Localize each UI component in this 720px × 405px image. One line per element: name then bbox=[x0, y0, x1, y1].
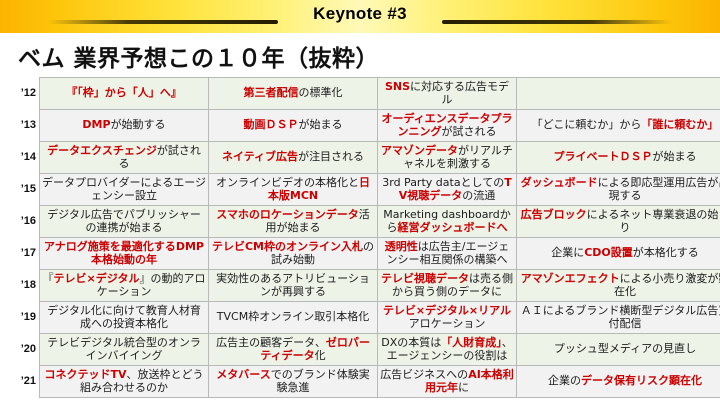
table-cell-text: ＡＩによるブランド横断型デジタル広告買付配信 bbox=[519, 305, 720, 330]
highlighted-term: スマホのロケーション bbox=[216, 208, 325, 221]
highlighted-term: リスク顕在化 bbox=[636, 374, 702, 387]
table-cell: 広告主の顧客データ、ゼロパーティデータ化 bbox=[209, 334, 378, 366]
plain-term: が bbox=[157, 144, 168, 157]
row-year-label: ’17 bbox=[6, 238, 40, 270]
plain-term: による bbox=[598, 176, 631, 189]
table-cell: 広告ブロックによるネット専業衰退の始まり bbox=[517, 206, 720, 238]
table-cell: SNSに対応する広告モデル bbox=[378, 78, 517, 110]
plain-term: シー相互関係の構築へ bbox=[398, 253, 508, 266]
row-year-label: ’16 bbox=[6, 206, 40, 238]
plain-term: デジタル広告でパブリッ bbox=[47, 208, 168, 221]
table-row: ’15データプロバイダーによるエージェンシー設立オンラインビデオの本格化と日本版… bbox=[6, 174, 720, 206]
table-cell: 3rd Party dataとしてのTV視聴データの流通 bbox=[378, 174, 517, 206]
highlighted-term: テレビ視聴データ bbox=[381, 272, 469, 285]
plain-term: によるブランド横断型デ bbox=[543, 304, 664, 317]
table-row: ’16デジタル広告でパブリッシャーの連携が始まるスマホのロケーションデータ活用が… bbox=[6, 206, 720, 238]
table-cell: デジタル広告でパブリッシャーの連携が始まる bbox=[40, 206, 209, 238]
highlighted-term: オンライン入札 bbox=[286, 240, 363, 253]
table-cell-text: メタバースでのブランド体験実験急進 bbox=[211, 369, 375, 394]
table-cell: アマゾンデータがリアルチャネルを刺激する bbox=[378, 142, 517, 174]
table-cell-text: プッシュ型メディアの見直し bbox=[519, 343, 720, 355]
highlighted-term: テレビ×デジタル×リアル bbox=[383, 304, 511, 317]
plain-term: 企業の bbox=[548, 374, 581, 387]
plain-term: での bbox=[271, 368, 293, 381]
table-cell-text: 動画ＤＳＰが始まる bbox=[211, 119, 375, 131]
highlighted-term: 経営ダッシュボードへ bbox=[398, 221, 508, 234]
table-cell-text: アマゾンデータがリアルチャネルを刺激する bbox=[380, 145, 514, 170]
highlighted-term: 「誰に頼むか」 bbox=[641, 118, 718, 131]
table-cell-text: コネクテッドTV、放送枠とどう組み合わせるのか bbox=[42, 369, 206, 394]
table-row: ’13DMPが始動する動画ＤＳＰが始まるオーディエンスデータプランニングが試され… bbox=[6, 110, 720, 142]
plain-term: 本格化する bbox=[644, 246, 699, 259]
table-cell: 第三者配信の標準化 bbox=[209, 78, 378, 110]
table-cell-text: データプロバイダーによるエージェンシー設立 bbox=[42, 177, 206, 202]
highlighted-term: データエクスチェンジ bbox=[47, 144, 157, 157]
plain-term: が始まる bbox=[653, 150, 697, 163]
plain-term: DXの本質は bbox=[381, 336, 441, 349]
table-cell-text: 広告ブロックによるネット専業衰退の始まり bbox=[519, 209, 720, 234]
highlighted-term: ダッシュボード bbox=[521, 176, 598, 189]
table-cell: コネクテッドTV、放送枠とどう組み合わせるのか bbox=[40, 366, 209, 398]
table-cell: 動画ＤＳＰが始まる bbox=[209, 110, 378, 142]
highlighted-term: データ bbox=[326, 208, 359, 221]
table-cell-text: 『「枠」から「人」へ』 bbox=[42, 87, 206, 99]
table-cell-text: 『テレビ×デジタル』の動的アロケーション bbox=[42, 273, 206, 298]
plain-term: 企業に bbox=[551, 246, 584, 259]
plain-term: 注目される bbox=[309, 150, 364, 163]
table-cell: プッシュ型メディアの見直し bbox=[517, 334, 720, 366]
row-year-label: ’12 bbox=[6, 78, 40, 110]
table-cell-text: 広告ビジネスへのAI本格利用元年に bbox=[380, 369, 514, 394]
plain-term: に bbox=[458, 381, 469, 394]
table-cell: テレビ×デジタル×リアルアロケーション bbox=[378, 302, 517, 334]
highlighted-term: 『「枠」から「人」へ』 bbox=[66, 86, 182, 99]
row-year-label: ’19 bbox=[6, 302, 40, 334]
table-cell: プライベートＤＳＰが始まる bbox=[517, 142, 720, 174]
highlighted-term: プライベートＤＳＰ bbox=[554, 150, 653, 163]
plain-term: 広告ビジネスへの bbox=[380, 368, 468, 381]
plain-term: アロケーション bbox=[409, 317, 486, 330]
table-cell-text: データエクスチェンジが試される bbox=[42, 145, 206, 170]
table-cell-text: オーディエンスデータプランニングが試される bbox=[380, 113, 514, 138]
table-cell-text: テレビデジタル統合型のオンラインバイイング bbox=[42, 337, 206, 362]
table-cell: DMPが始動する bbox=[40, 110, 209, 142]
plain-term: 「どこに頼むか」から bbox=[532, 118, 642, 131]
row-year-label: ’14 bbox=[6, 142, 40, 174]
table-cell: ＡＩによるブランド横断型デジタル広告買付配信 bbox=[517, 302, 720, 334]
highlighted-term: テレビCM枠の bbox=[212, 240, 286, 253]
table-cell-text: 実効性のあるアトリビューションが再興する bbox=[211, 273, 375, 298]
table-cell: テレビデジタル統合型のオンラインバイイング bbox=[40, 334, 209, 366]
table-cell: 広告ビジネスへのAI本格利用元年に bbox=[378, 366, 517, 398]
table-cell-text: 企業のデータ保有リスク顕在化 bbox=[519, 375, 720, 387]
table-cell-text: 「どこに頼むか」から「誰に頼むか」 bbox=[519, 119, 720, 131]
table-row: ’14データエクスチェンジが試されるネイティブ広告が注目されるアマゾンデータがリ… bbox=[6, 142, 720, 174]
table-cell: アマゾンエフェクトによる小売り激変が顕在化 bbox=[517, 270, 720, 302]
plain-term: 『 bbox=[43, 272, 54, 285]
highlighted-term: コネクテッドTV bbox=[44, 368, 126, 381]
highlighted-term: 動画ＤＳＰ bbox=[244, 118, 299, 131]
table-cell-text: 3rd Party dataとしてのTV視聴データの流通 bbox=[380, 177, 514, 202]
table-cell: オーディエンスデータプランニングが試される bbox=[378, 110, 517, 142]
plain-term: 実効性のあるアトリビュー bbox=[216, 272, 348, 285]
table-cell: 透明性は広告主/エージェンシー相互関係の構築へ bbox=[378, 238, 517, 270]
plain-term: データプロバイダーによる bbox=[42, 176, 173, 189]
table-cell: データプロバイダーによるエージェンシー設立 bbox=[40, 174, 209, 206]
table-cell-text: ダッシュボードによる即応型運用広告が出現する bbox=[519, 177, 720, 202]
table-cell-text: 第三者配信の標準化 bbox=[211, 87, 375, 99]
table-cell: DXの本質は「人財育成」、エージェンシーの役割は bbox=[378, 334, 517, 366]
page-title: ベム 業界予想この１０年（抜粋） bbox=[18, 39, 720, 73]
table-cell-text: SNSに対応する広告モデル bbox=[380, 81, 514, 106]
table-row: ’18『テレビ×デジタル』の動的アロケーション実効性のあるアトリビューションが再… bbox=[6, 270, 720, 302]
table-row: ’19デジタル化に向けて教育人材育成への投資本格化TVCM枠オンライン取引本格化… bbox=[6, 302, 720, 334]
table-row: ’21コネクテッドTV、放送枠とどう組み合わせるのかメタバースでのブランド体験実… bbox=[6, 366, 720, 398]
table-cell-text: テレビCM枠のオンライン入札の試み始動 bbox=[211, 241, 375, 266]
plain-term: が始まる bbox=[299, 118, 343, 131]
table-cell-text: オンラインビデオの本格化と日本版MCN bbox=[211, 177, 375, 202]
table-cell-text: DXの本質は「人財育成」、エージェンシーの役割は bbox=[380, 337, 514, 362]
table-cell-text: TVCM枠オンライン取引本格化 bbox=[211, 311, 375, 323]
table-cell-text: デジタル広告でパブリッシャーの連携が始まる bbox=[42, 209, 206, 234]
table-cell: Marketing dashboardから経営ダッシュボードへ bbox=[378, 206, 517, 238]
forecast-table: ’12『「枠」から「人」へ』第三者配信の標準化SNSに対応する広告モデル’13D… bbox=[6, 77, 720, 398]
table-cell-text: DMPが始動する bbox=[42, 119, 206, 131]
table-cell-text: テレビ視聴データは売る側から買う側のデータに bbox=[380, 273, 514, 298]
plain-term: が bbox=[298, 150, 309, 163]
table-cell bbox=[517, 78, 720, 110]
highlighted-term: SNS bbox=[385, 80, 410, 93]
table-cell-text: アナログ施策を最適化するDMP本格始動の年 bbox=[42, 241, 206, 266]
highlighted-term: ネイティブ広告 bbox=[222, 150, 298, 163]
highlighted-term: アマゾンエフェクト bbox=[521, 272, 620, 285]
row-year-label: ’18 bbox=[6, 270, 40, 302]
banner-title: Keynote #3 bbox=[0, 4, 720, 24]
table-cell: ネイティブ広告が注目される bbox=[209, 142, 378, 174]
table-cell: ダッシュボードによる即応型運用広告が出現する bbox=[517, 174, 720, 206]
plain-term: 広告主の顧客データ、 bbox=[216, 336, 326, 349]
plain-term: 』の bbox=[140, 272, 162, 285]
highlighted-term: 透明性 bbox=[385, 240, 418, 253]
plain-term: エージェンシーの役割は bbox=[387, 349, 508, 362]
row-year-label: ’20 bbox=[6, 334, 40, 366]
table-cell: 実効性のあるアトリビューションが再興する bbox=[209, 270, 378, 302]
highlighted-term: 「人財育成」 bbox=[441, 336, 502, 349]
table-cell: 『「枠」から「人」へ』 bbox=[40, 78, 209, 110]
forecast-table-body: ’12『「枠」から「人」へ』第三者配信の標準化SNSに対応する広告モデル’13D… bbox=[6, 78, 720, 398]
row-year-label: ’21 bbox=[6, 366, 40, 398]
plain-term: 本格化 bbox=[336, 310, 369, 323]
table-cell: 企業にCDO設置が本格化する bbox=[517, 238, 720, 270]
plain-term: が試される bbox=[442, 125, 497, 138]
table-cell-text: テレビ×デジタル×リアルアロケーション bbox=[380, 305, 514, 330]
highlighted-term: データ保有 bbox=[581, 374, 636, 387]
table-cell-text: 透明性は広告主/エージェンシー相互関係の構築へ bbox=[380, 241, 514, 266]
highlighted-term: 第三者配信 bbox=[244, 86, 299, 99]
plain-term: によるネット専 bbox=[587, 208, 664, 221]
plain-term: が始動する bbox=[111, 118, 166, 131]
table-cell-text: デジタル化に向けて教育人材育成への投資本格化 bbox=[42, 305, 206, 330]
table-cell: スマホのロケーションデータ活用が始まる bbox=[209, 206, 378, 238]
plain-term: ら買う側のデータに bbox=[403, 285, 502, 298]
table-cell-text: 企業にCDO設置が本格化する bbox=[519, 247, 720, 259]
row-year-label: ’15 bbox=[6, 174, 40, 206]
table-cell: テレビCM枠のオンライン入札の試み始動 bbox=[209, 238, 378, 270]
plain-term: 、放送枠と bbox=[127, 368, 182, 381]
highlighted-term: メタバース bbox=[216, 368, 270, 381]
table-cell: テレビ視聴データは売る側から買う側のデータに bbox=[378, 270, 517, 302]
plain-term: 、 bbox=[502, 336, 513, 349]
plain-term: 3rd Party dataとしての bbox=[382, 176, 504, 189]
highlighted-term: テレビ×デジタル bbox=[54, 272, 140, 285]
highlighted-term: ニング bbox=[409, 125, 442, 138]
table-cell: オンラインビデオの本格化と日本版MCN bbox=[209, 174, 378, 206]
plain-term: TVCM枠オンライン取引 bbox=[217, 310, 336, 323]
table-cell: 企業のデータ保有リスク顕在化 bbox=[517, 366, 720, 398]
table-cell: アナログ施策を最適化するDMP本格始動の年 bbox=[40, 238, 209, 270]
table-cell-text: スマホのロケーションデータ活用が始まる bbox=[211, 209, 375, 234]
table-cell-text: アマゾンエフェクトによる小売り激変が顕在化 bbox=[519, 273, 720, 298]
table-cell: 『テレビ×デジタル』の動的アロケーション bbox=[40, 270, 209, 302]
table-cell: メタバースでのブランド体験実験急進 bbox=[209, 366, 378, 398]
table-cell-text: 広告主の顧客データ、ゼロパーティデータ化 bbox=[211, 337, 375, 362]
table-row: ’17アナログ施策を最適化するDMP本格始動の年テレビCM枠のオンライン入札の試… bbox=[6, 238, 720, 270]
plain-term: プッシュ型メディアの bbox=[554, 342, 663, 355]
plain-term: による小 bbox=[620, 272, 664, 285]
plain-term: テレビデジタル統合型のオン bbox=[47, 336, 190, 349]
table-row: ’12『「枠」から「人」へ』第三者配信の標準化SNSに対応する広告モデル bbox=[6, 78, 720, 110]
highlighted-term: アナログ施策を最適化する bbox=[44, 240, 176, 253]
plain-term: ＡＩ bbox=[521, 304, 543, 317]
table-cell-text: Marketing dashboardから経営ダッシュボードへ bbox=[380, 209, 514, 234]
plain-term: オンラインビデオの本格化と bbox=[216, 176, 359, 189]
slide-banner: Keynote #3 bbox=[0, 0, 720, 33]
plain-term: に対応する広告モデル bbox=[410, 80, 509, 105]
table-cell-text: プライベートＤＳＰが始まる bbox=[519, 151, 720, 163]
highlighted-term: DMP bbox=[82, 118, 110, 131]
highlighted-term: CDO設置 bbox=[584, 246, 633, 259]
row-year-label: ’13 bbox=[6, 110, 40, 142]
plain-term: の流通 bbox=[462, 189, 495, 202]
highlighted-term: アマゾンデータ bbox=[381, 144, 458, 157]
table-cell: データエクスチェンジが試される bbox=[40, 142, 209, 174]
highlighted-term: 広告ブロック bbox=[521, 208, 587, 221]
plain-term: デジタル化に向けて教育人材 bbox=[47, 304, 190, 317]
plain-term: 見直し bbox=[663, 342, 696, 355]
table-cell: TVCM枠オンライン取引本格化 bbox=[209, 302, 378, 334]
table-cell: デジタル化に向けて教育人材育成への投資本格化 bbox=[40, 302, 209, 334]
plain-term: 化 bbox=[315, 349, 326, 362]
table-row: ’20テレビデジタル統合型のオンラインバイイング広告主の顧客データ、ゼロパーティ… bbox=[6, 334, 720, 366]
plain-term: の標準化 bbox=[299, 86, 343, 99]
plain-term: ネルを刺激する bbox=[414, 157, 491, 170]
plain-term: が bbox=[633, 246, 644, 259]
table-cell-text: ネイティブ広告が注目される bbox=[211, 151, 375, 163]
table-cell: 「どこに頼むか」から「誰に頼むか」 bbox=[517, 110, 720, 142]
